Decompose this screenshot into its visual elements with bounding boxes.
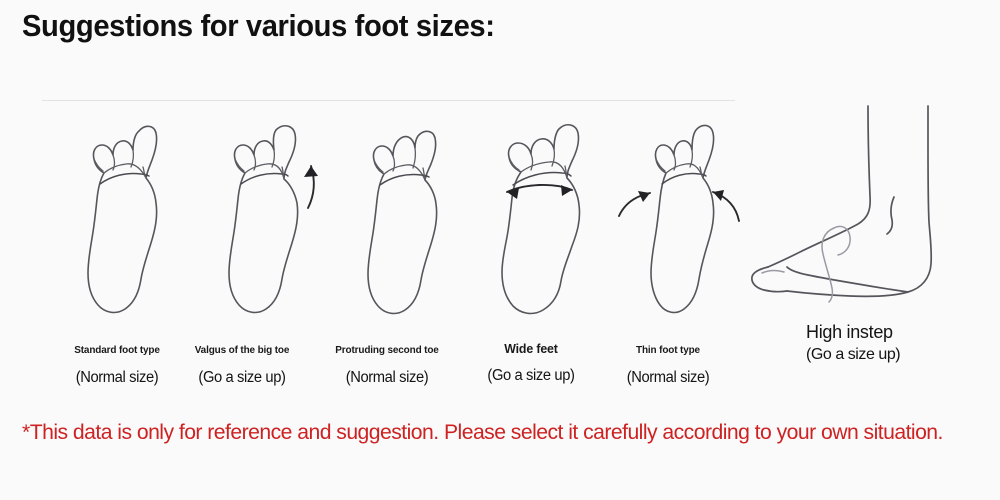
foot-diagram-standard (46, 104, 196, 324)
page-title: Suggestions for various foot sizes: (22, 8, 495, 44)
foot-diagram-wide-feet (462, 104, 612, 324)
foot-diagram-high-instep (742, 112, 992, 317)
foot-diagram-thin-foot (606, 104, 756, 324)
caption-name: Thin foot type (578, 344, 759, 356)
caption-name: High instep (806, 322, 1000, 343)
caption-high-instep: High instep (Go a size up) (806, 322, 1000, 364)
foot-diagram-valgus-big-toe (186, 104, 336, 324)
caption-advice: (Normal size) (578, 369, 759, 387)
foot-diagram-protruding-second-toe (326, 104, 476, 324)
foot-size-guide-page: Suggestions for various foot sizes: (0, 0, 1000, 500)
caption-thin-foot: Thin foot type (Normal size) (573, 344, 763, 387)
disclaimer-text: *This data is only for reference and sug… (22, 420, 943, 445)
thin-foot-inward-arrows-icon (619, 190, 739, 221)
valgus-arrow-icon (304, 166, 318, 208)
wide-feet-double-arrow-icon (507, 185, 572, 199)
baseline-rule (42, 100, 735, 101)
caption-advice: (Go a size up) (806, 346, 1000, 364)
